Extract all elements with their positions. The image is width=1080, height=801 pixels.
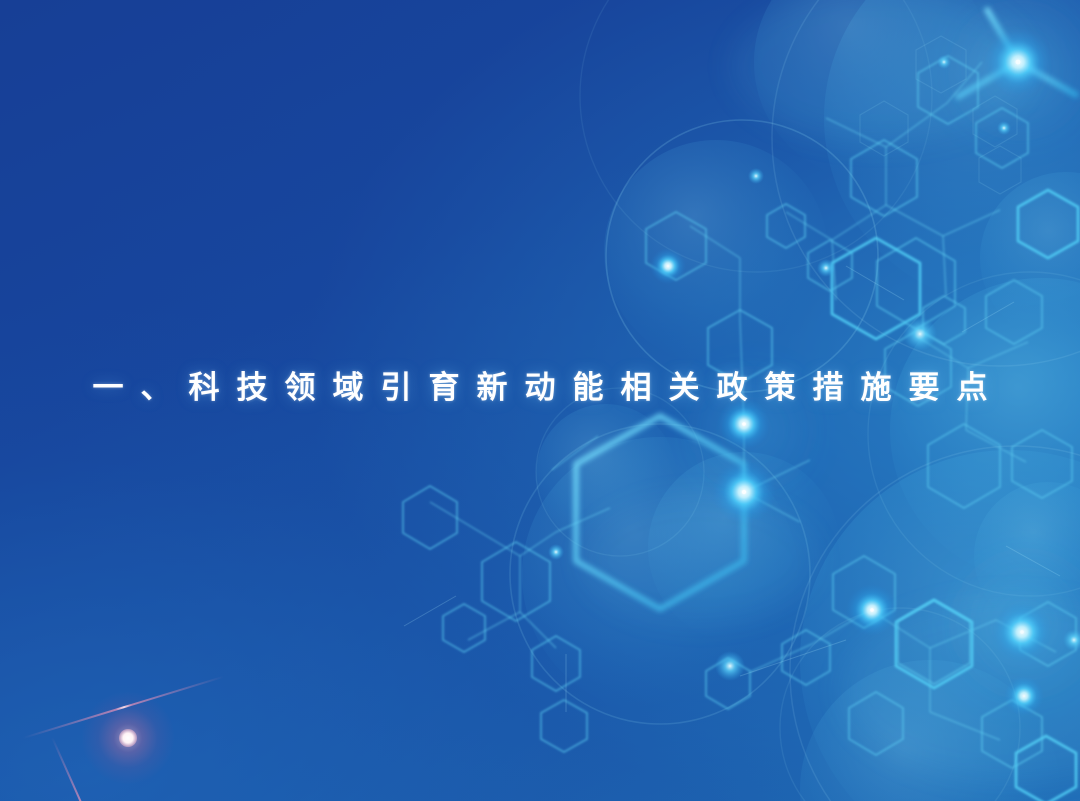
slide-canvas: 一、科技领域引育新动能相关政策措施要点 (0, 0, 1080, 801)
slide-title: 一、科技领域引育新动能相关政策措施要点 (76, 372, 1005, 403)
title-container: 一、科技领域引育新动能相关政策措施要点 (0, 372, 1080, 403)
flare-core (119, 729, 137, 747)
